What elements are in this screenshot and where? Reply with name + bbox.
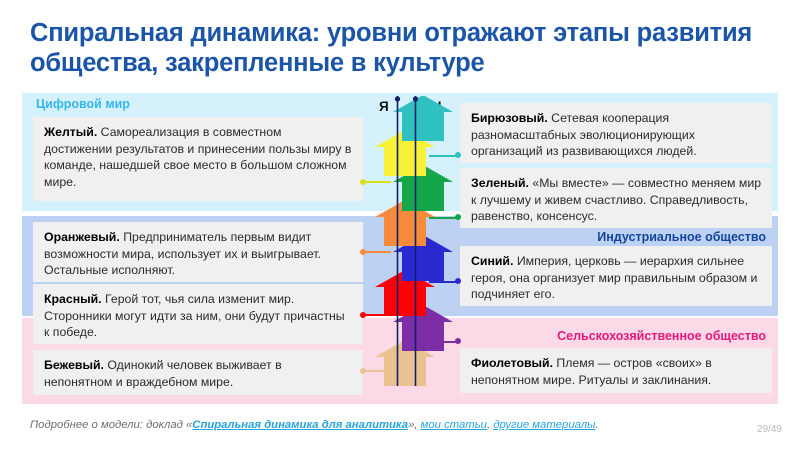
spiral-dynamics-arrow-stack	[366, 96, 462, 396]
footer-suffix: .	[595, 419, 598, 431]
card-beige: Бежевый. Одинокий человек выживает в неп…	[33, 350, 363, 395]
card-violet-name: Фиолетовый.	[471, 356, 553, 370]
footer-mid: »,	[408, 419, 421, 431]
card-red-name: Красный.	[44, 292, 102, 306]
connector-dot-orange	[360, 249, 366, 255]
footer-link-report[interactable]: Спиральная динамика для аналитика	[192, 419, 408, 431]
connector-beige	[363, 370, 391, 372]
connector-green	[429, 217, 457, 219]
connector-turquoise	[429, 155, 457, 157]
card-red: Красный. Герой тот, чья сила изменит мир…	[33, 284, 363, 344]
connector-dot-blue	[455, 278, 461, 284]
card-violet: Фиолетовый. Племя — остров «своих» в неп…	[460, 348, 772, 393]
connector-dot-yellow	[360, 179, 366, 185]
connector-dot-green	[455, 214, 461, 220]
page-number: 29/49	[757, 424, 782, 435]
connector-violet	[429, 341, 457, 343]
footer-link-materials[interactable]: другие материалы	[493, 419, 595, 431]
connector-dot-violet	[455, 338, 461, 344]
card-turquoise: Бирюзовый. Сетевая кооперация разномасшт…	[460, 103, 772, 163]
connector-yellow	[363, 181, 391, 183]
band-label-digital: Цифровой мир	[36, 97, 130, 111]
connector-blue	[429, 281, 457, 283]
card-yellow: Желтый. Самореализация в совместном дост…	[33, 117, 363, 201]
connector-orange	[363, 251, 391, 253]
card-blue-text: Империя, церковь — иерархия сильнее геро…	[471, 254, 757, 301]
card-green: Зеленый. «Мы вместе» — совместно меняем …	[460, 168, 772, 228]
card-orange: Оранжевый. Предприниматель первым видит …	[33, 222, 363, 282]
card-turquoise-name: Бирюзовый.	[471, 111, 548, 125]
footer: Подробнее о модели: доклад «Спиральная д…	[30, 419, 730, 431]
card-yellow-name: Желтый.	[44, 125, 97, 139]
card-blue: Синий. Империя, церковь — иерархия сильн…	[460, 246, 772, 306]
card-orange-name: Оранжевый.	[44, 230, 120, 244]
arrow-turquoise	[393, 96, 453, 141]
card-green-name: Зеленый.	[471, 176, 529, 190]
connector-dot-beige	[360, 368, 366, 374]
footer-link-articles[interactable]: мои статьи	[421, 419, 487, 431]
band-label-agricultural: Сельскохозяйственное общество	[452, 329, 772, 343]
card-blue-name: Синий.	[471, 254, 513, 268]
card-beige-name: Бежевый.	[44, 358, 104, 372]
connector-dot-turquoise	[455, 152, 461, 158]
footer-prefix: Подробнее о модели: доклад «	[30, 419, 192, 431]
band-label-industrial: Индустриальное общество	[452, 230, 772, 244]
page-title: Спиральная динамика: уровни отражают эта…	[30, 18, 770, 78]
connector-red	[363, 314, 391, 316]
connector-dot-red	[360, 312, 366, 318]
slide-root: Спиральная динамика: уровни отражают эта…	[0, 0, 800, 450]
